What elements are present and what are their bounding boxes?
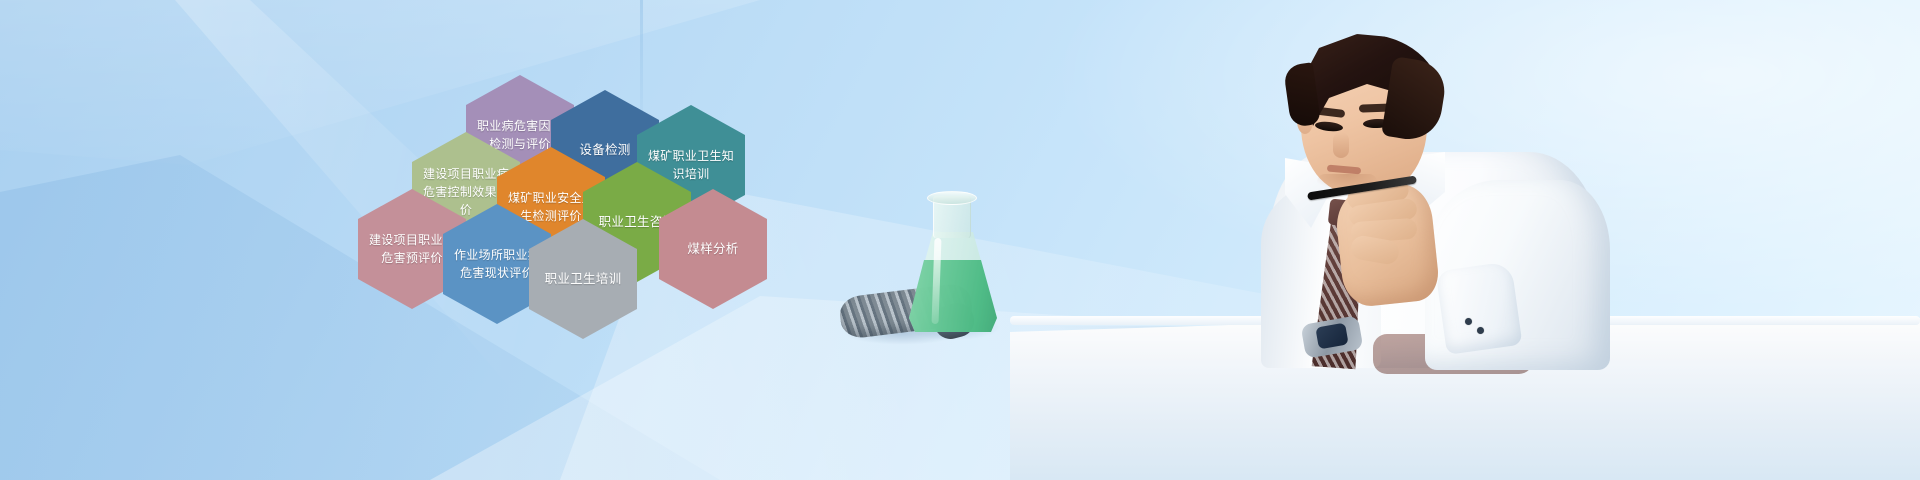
hexagon-label: 煤样分析 [687,240,738,258]
hexagon-cluster: 职业病危害因素检测与评价设备检测煤矿职业卫生知识培训建设项目职业病危害控制效果评… [0,0,1920,480]
hexagon-label: 设备检测 [579,141,630,159]
hexagon-label: 职业卫生培训 [545,270,622,288]
banner-stage: 职业病危害因素检测与评价设备检测煤矿职业卫生知识培训建设项目职业病危害控制效果评… [0,0,1920,480]
